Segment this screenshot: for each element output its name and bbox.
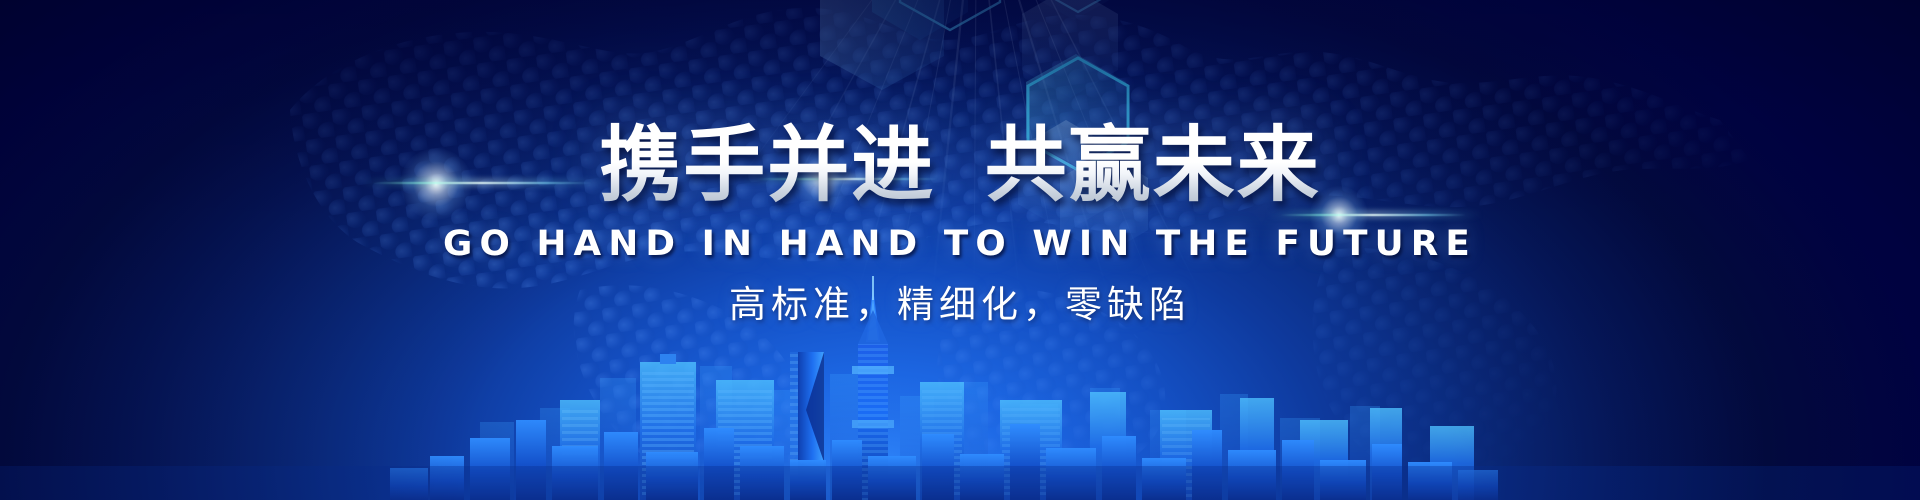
banner-subtitle-chinese: 高标准，精细化，零缺陷 [0,278,1920,332]
banner-hero: 携手并进 共赢未来 GO HAND IN HAND TO WIN THE FUT… [0,0,1920,500]
banner-main-title: 携手并进 共赢未来 [599,118,1321,214]
banner-title-wrap: 携手并进 共赢未来 [0,118,1920,214]
banner-text-content: 携手并进 共赢未来 GO HAND IN HAND TO WIN THE FUT… [0,0,1920,500]
banner-subtitle-english: GO HAND IN HAND TO WIN THE FUTURE [0,222,1920,266]
